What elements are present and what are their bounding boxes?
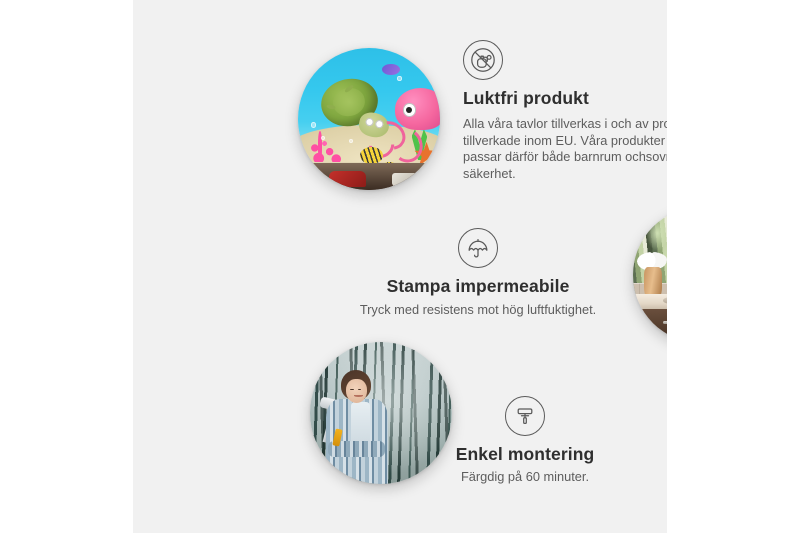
turtle-front-fin bbox=[326, 104, 336, 110]
water-bubble bbox=[311, 122, 317, 128]
feature-description: Alla våra tavlor tillverkas i och av pro… bbox=[463, 116, 667, 183]
underwater-cartoon-photo bbox=[298, 48, 440, 190]
feature-title: Luktfri produkt bbox=[463, 88, 667, 110]
water-bubble bbox=[397, 76, 401, 80]
umbrella-icon bbox=[458, 228, 498, 268]
feature-title: Stampa impermeabile bbox=[348, 276, 608, 298]
content-panel: Luktfri produkt Alla våra tavlor tillver… bbox=[133, 0, 667, 533]
countertop bbox=[633, 294, 667, 310]
bathroom-vanity-photo bbox=[633, 207, 667, 343]
paint-roller-icon bbox=[505, 396, 545, 436]
octopus-eye bbox=[403, 103, 416, 117]
room-foreground bbox=[298, 163, 440, 190]
feature-title: Enkel montering bbox=[425, 444, 625, 466]
feature-description: Tryck med resistens mot hög luftfuktighe… bbox=[348, 302, 608, 319]
wood-cabinet bbox=[641, 309, 667, 343]
feature-description: Färgdig på 60 minuter. bbox=[425, 469, 625, 486]
woman-face bbox=[346, 379, 367, 403]
no-fragrance-icon bbox=[463, 40, 503, 80]
infographic-canvas: Luktfri produkt Alla våra tavlor tillver… bbox=[0, 0, 800, 533]
feature-waterproof-print: Stampa impermeabile Tryck med resistens … bbox=[348, 228, 608, 319]
purple-fish bbox=[382, 64, 400, 75]
pink-octopus bbox=[395, 88, 440, 131]
pink-coral bbox=[307, 125, 347, 162]
feature-easy-mounting: Enkel montering Färgdig på 60 minuter. bbox=[425, 396, 625, 486]
feature-odour-free: Luktfri produkt Alla våra tavlor tillver… bbox=[463, 40, 667, 182]
turtle-back-fin bbox=[344, 84, 354, 93]
